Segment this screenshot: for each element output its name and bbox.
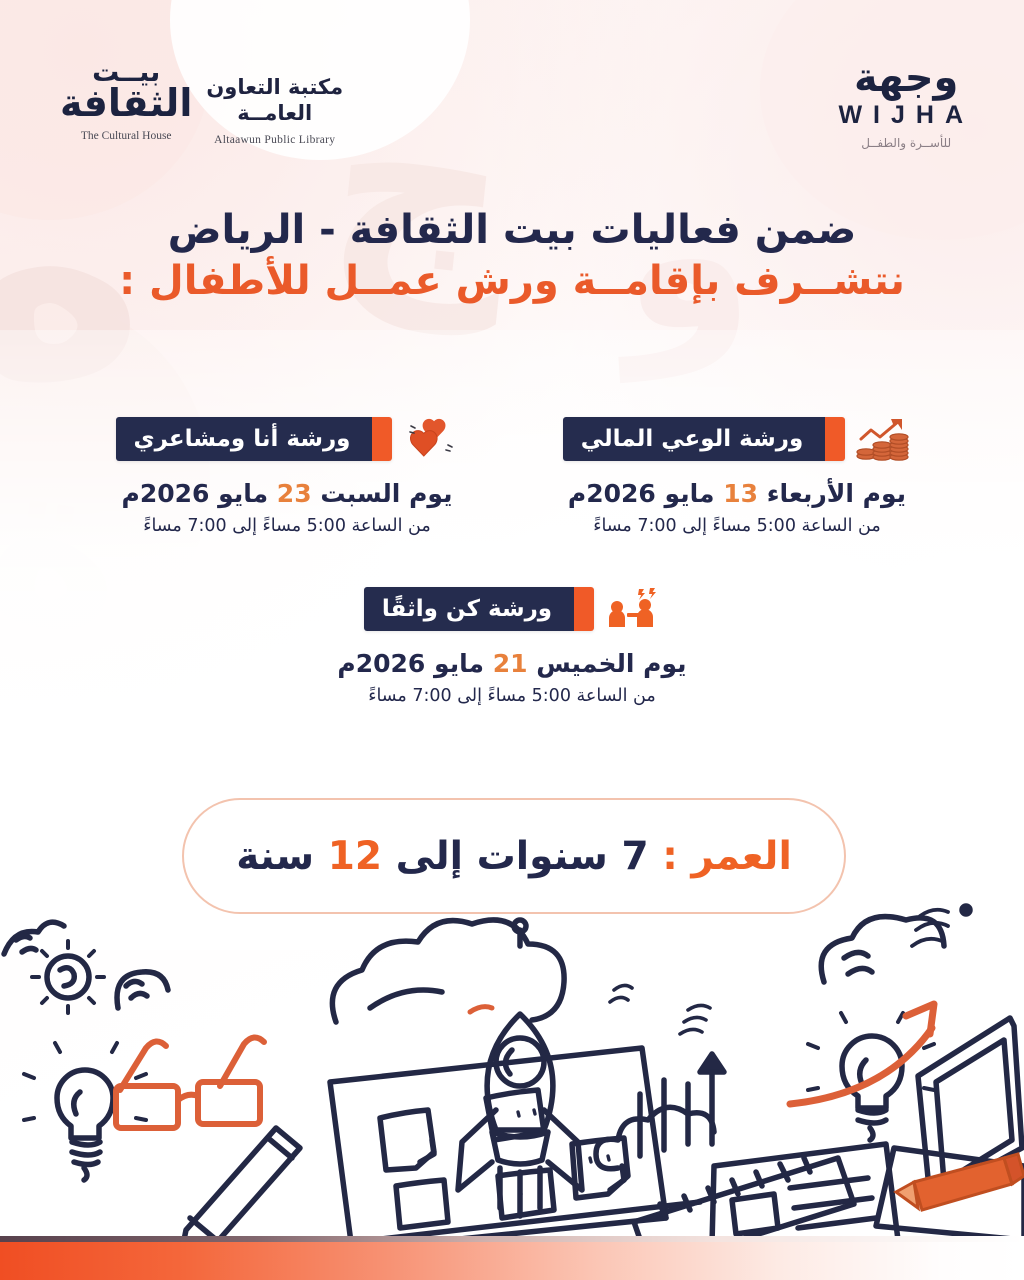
library-arabic-line1: مكتبة التعاون [206, 74, 343, 100]
wijha-tagline: للأســرة والطفــل [838, 136, 974, 150]
workshop-date-line: يوم السبت 23 مايو 2026م [87, 477, 487, 511]
workshop-month-year: مايو 2026م [568, 479, 715, 508]
workshop-title: ورشة أنا ومشاعري [116, 417, 373, 461]
workshop-time: من الساعة 5:00 مساءً إلى 7:00 مساءً [312, 683, 712, 709]
workshop-date-number: 21 [493, 649, 528, 678]
workshop-card-be-confident: ورشة كن واثقًا يوم الخميس 21 مايو 2026م … [312, 585, 712, 709]
badge-accent-bar [574, 587, 594, 631]
cultural-house-arabic-line2: الثقافة [60, 84, 192, 122]
workshop-title-badge: ورشة كن واثقًا [364, 587, 594, 631]
bottom-gradient-bar [0, 1236, 1024, 1280]
cultural-house-logo: بيــت الثقافة The Cultural House [60, 60, 192, 142]
workshop-day: يوم الخميس [536, 649, 686, 678]
workshop-day: يوم السبت [320, 479, 452, 508]
workshop-day: يوم الأربعاء [767, 479, 906, 508]
workshop-month-year: مايو 2026م [122, 479, 269, 508]
wijha-logo: وجهة WIJHA للأســرة والطفــل [838, 58, 974, 150]
library-arabic-line2: العامــة [206, 100, 343, 126]
workshop-header: ورشة أنا ومشاعري [87, 415, 487, 463]
workshop-date-number: 23 [277, 479, 312, 508]
poster-canvas: ه ج و ة مكتبة التعاون العامــة Altaawun … [0, 0, 1024, 1280]
workshop-schedule: يوم الأربعاء 13 مايو 2026م من الساعة 5:0… [537, 477, 937, 539]
wijha-arabic-name: وجهة [838, 58, 974, 98]
workshop-title-badge: ورشة الوعي المالي [563, 417, 846, 461]
workshop-title-badge: ورشة أنا ومشاعري [116, 417, 393, 461]
workshops-section: ورشة الوعي المالي يوم الأربعاء 13 مايو 2… [0, 415, 1024, 709]
age-range-pill: العمر : 7 سنوات إلى 12 سنة [182, 798, 846, 914]
workshop-date-number: 13 [723, 479, 758, 508]
workshop-title: ورشة كن واثقًا [364, 587, 574, 631]
partner-logos: مكتبة التعاون العامــة Altaawun Public L… [60, 60, 343, 146]
badge-accent-bar [825, 417, 845, 461]
altaawun-library-logo: مكتبة التعاون العامــة Altaawun Public L… [206, 60, 343, 146]
workshop-schedule: يوم السبت 23 مايو 2026م من الساعة 5:00 م… [87, 477, 487, 539]
headline-line-2: نتشــرف بإقامــة ورش عمــل للأطفال : [0, 256, 1024, 307]
workshops-row-bottom: ورشة كن واثقًا يوم الخميس 21 مايو 2026م … [0, 585, 1024, 709]
workshop-schedule: يوم الخميس 21 مايو 2026م من الساعة 5:00 … [312, 647, 712, 709]
age-range-suffix: سنة [236, 834, 314, 879]
workshop-header: ورشة الوعي المالي [537, 415, 937, 463]
headline-block: ضمن فعاليات بيت الثقافة - الرياض نتشــرف… [0, 205, 1024, 307]
workshop-card-financial-awareness: ورشة الوعي المالي يوم الأربعاء 13 مايو 2… [537, 415, 937, 539]
workshop-title: ورشة الوعي المالي [563, 417, 826, 461]
badge-accent-bar [372, 417, 392, 461]
library-english-name: Altaawun Public Library [206, 134, 343, 146]
presenter-icon [604, 585, 660, 633]
headline-line-1: ضمن فعاليات بيت الثقافة - الرياض [0, 205, 1024, 256]
workshop-header: ورشة كن واثقًا [312, 585, 712, 633]
cultural-house-english-name: The Cultural House [60, 130, 192, 142]
workshop-card-me-and-my-feelings: ورشة أنا ومشاعري يوم السبت 23 مايو 2026م… [87, 415, 487, 539]
workshops-row-top: ورشة الوعي المالي يوم الأربعاء 13 مايو 2… [0, 415, 1024, 539]
age-range-text: العمر : 7 سنوات إلى 12 سنة [236, 834, 792, 879]
age-range-prefix: 7 سنوات إلى [396, 834, 649, 879]
wijha-english-name: WIJHA [838, 101, 974, 130]
workshop-time: من الساعة 5:00 مساءً إلى 7:00 مساءً [87, 513, 487, 539]
coins-growth-icon [855, 415, 911, 463]
hearts-icon [402, 415, 458, 463]
workshop-date-line: يوم الخميس 21 مايو 2026م [312, 647, 712, 681]
workshop-date-line: يوم الأربعاء 13 مايو 2026م [537, 477, 937, 511]
poster-header: مكتبة التعاون العامــة Altaawun Public L… [0, 52, 1024, 172]
workshop-time: من الساعة 5:00 مساءً إلى 7:00 مساءً [537, 513, 937, 539]
age-label: العمر : [662, 834, 792, 879]
workshop-month-year: مايو 2026م [337, 649, 484, 678]
age-range-number: 12 [328, 834, 382, 879]
doodle-illustration-band [0, 900, 1024, 1245]
